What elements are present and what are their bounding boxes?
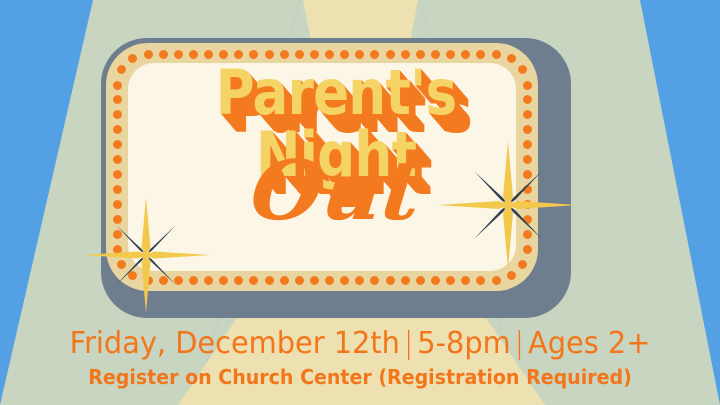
- event-details-block: Friday, December 12th|5-8pm|Ages 2+ Regi…: [0, 326, 720, 389]
- details-separator-1: |: [400, 326, 417, 361]
- registration-line: Register on Church Center (Registration …: [18, 365, 702, 389]
- event-time: 5-8pm: [417, 326, 510, 361]
- sign-face-panel: [128, 63, 516, 271]
- marquee-sign: Parent's Night Out: [101, 38, 571, 318]
- event-ages: Ages 2+: [528, 326, 650, 361]
- event-details-line: Friday, December 12th|5-8pm|Ages 2+: [14, 326, 705, 361]
- event-flyer: Parent's Night Out: [0, 0, 720, 405]
- details-separator-2: |: [511, 326, 528, 361]
- event-date: Friday, December 12th: [70, 326, 400, 361]
